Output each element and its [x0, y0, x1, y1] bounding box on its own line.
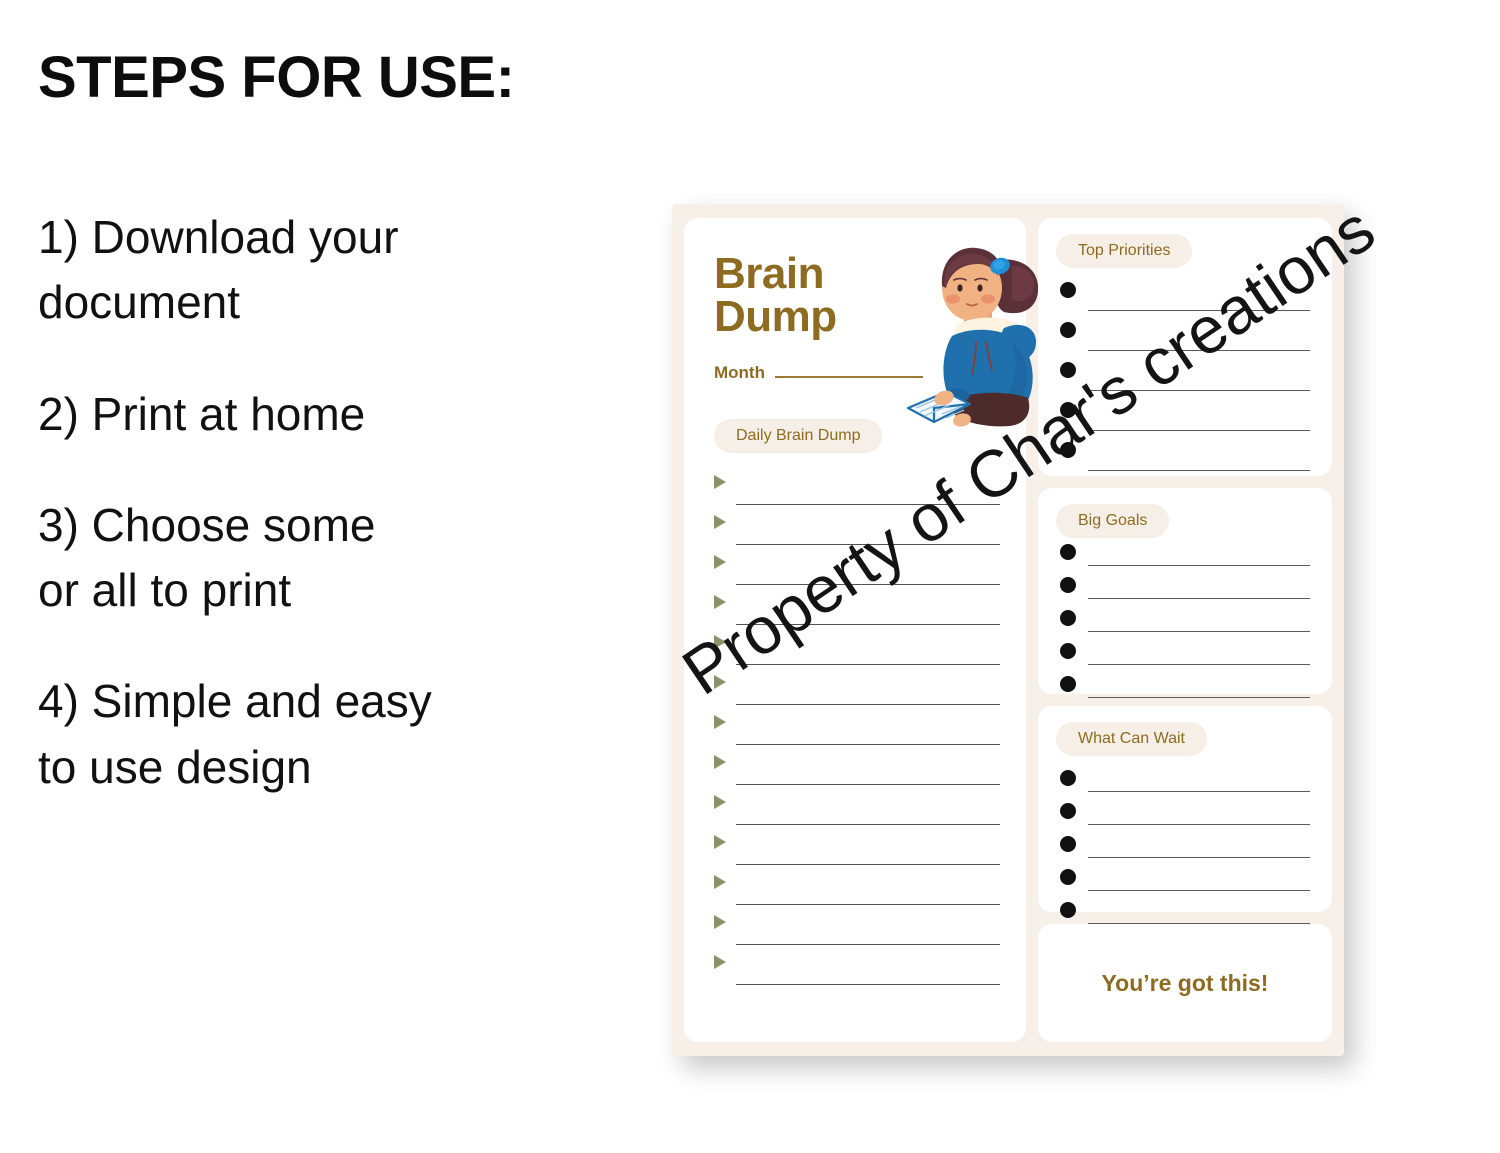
list-item[interactable] — [1056, 542, 1310, 575]
list-item[interactable] — [1056, 641, 1310, 674]
write-line[interactable] — [1088, 857, 1310, 858]
arrow-right-icon — [714, 515, 726, 529]
write-line[interactable] — [1088, 430, 1310, 431]
step-item-2: 2) Print at home — [38, 382, 638, 447]
arrow-right-icon — [714, 475, 726, 489]
bullet-dot-icon — [1060, 902, 1076, 918]
write-line[interactable] — [1088, 598, 1310, 599]
arrow-right-icon — [714, 835, 726, 849]
arrow-right-icon — [714, 555, 726, 569]
list-item[interactable] — [1056, 440, 1310, 480]
write-line[interactable] — [1088, 890, 1310, 891]
bullet-dot-icon — [1060, 770, 1076, 786]
big-goals-list — [1056, 542, 1310, 707]
big-goals-panel: Big Goals — [1038, 488, 1332, 694]
bullet-dot-icon — [1060, 869, 1076, 885]
arrow-right-icon — [714, 715, 726, 729]
brain-dump-card: Brain Dump Month — [684, 218, 1026, 1042]
list-item[interactable] — [714, 473, 1000, 513]
arrow-right-icon — [714, 795, 726, 809]
bullet-dot-icon — [1060, 836, 1076, 852]
list-item[interactable] — [1056, 360, 1310, 400]
write-line[interactable] — [1088, 631, 1310, 632]
write-line[interactable] — [1088, 791, 1310, 792]
big-goals-pill: Big Goals — [1056, 504, 1169, 538]
motivation-panel: You’re got this! — [1038, 924, 1332, 1042]
write-line[interactable] — [1088, 390, 1310, 391]
list-item[interactable] — [714, 833, 1000, 873]
month-field[interactable]: Month — [714, 364, 1000, 381]
write-line[interactable] — [736, 744, 1000, 745]
write-line[interactable] — [736, 824, 1000, 825]
write-line[interactable] — [1088, 470, 1310, 471]
arrow-right-icon — [714, 755, 726, 769]
list-item[interactable] — [714, 513, 1000, 553]
bullet-dot-icon — [1060, 322, 1076, 338]
list-item[interactable] — [714, 873, 1000, 913]
list-item[interactable] — [1056, 320, 1310, 360]
list-item[interactable] — [1056, 867, 1310, 900]
arrow-right-icon — [714, 875, 726, 889]
write-line[interactable] — [1088, 565, 1310, 566]
list-item[interactable] — [714, 753, 1000, 793]
daily-brain-dump-pill: Daily Brain Dump — [714, 419, 882, 453]
instructions-panel: STEPS FOR USE: 1) Download your document… — [38, 48, 638, 846]
write-line[interactable] — [736, 704, 1000, 705]
arrow-right-icon — [714, 595, 726, 609]
write-line[interactable] — [736, 984, 1000, 985]
list-item[interactable] — [714, 593, 1000, 633]
month-write-line[interactable] — [775, 376, 923, 378]
right-panel-column: Top Priorities Big Goals — [1038, 218, 1332, 1042]
write-line[interactable] — [1088, 824, 1310, 825]
title-block: Brain Dump Month — [714, 252, 1000, 381]
daily-brain-dump-list — [714, 473, 1000, 993]
planner-layout: Brain Dump Month — [672, 204, 1344, 1056]
top-priorities-list — [1056, 280, 1310, 480]
list-item[interactable] — [714, 953, 1000, 993]
write-line[interactable] — [736, 584, 1000, 585]
bullet-dot-icon — [1060, 643, 1076, 659]
list-item[interactable] — [1056, 768, 1310, 801]
planner-title: Brain Dump — [714, 252, 1000, 338]
bullet-dot-icon — [1060, 402, 1076, 418]
bullet-dot-icon — [1060, 544, 1076, 560]
list-item[interactable] — [714, 633, 1000, 673]
top-priorities-panel: Top Priorities — [1038, 218, 1332, 476]
write-line[interactable] — [736, 624, 1000, 625]
write-line[interactable] — [1088, 350, 1310, 351]
write-line[interactable] — [736, 664, 1000, 665]
list-item[interactable] — [714, 713, 1000, 753]
list-item[interactable] — [714, 553, 1000, 593]
what-can-wait-panel: What Can Wait — [1038, 706, 1332, 912]
list-item[interactable] — [1056, 834, 1310, 867]
write-line[interactable] — [736, 944, 1000, 945]
page-title: STEPS FOR USE: — [38, 48, 638, 109]
planner-preview-page: Brain Dump Month — [672, 204, 1344, 1056]
bullet-dot-icon — [1060, 577, 1076, 593]
list-item[interactable] — [1056, 608, 1310, 641]
what-can-wait-pill: What Can Wait — [1056, 722, 1207, 756]
bullet-dot-icon — [1060, 676, 1076, 692]
write-line[interactable] — [1088, 697, 1310, 698]
write-line[interactable] — [736, 784, 1000, 785]
motivation-text: You’re got this! — [1102, 970, 1269, 997]
bullet-dot-icon — [1060, 362, 1076, 378]
step-item-1: 1) Download your document — [38, 205, 638, 336]
bullet-dot-icon — [1060, 282, 1076, 298]
list-item[interactable] — [714, 913, 1000, 953]
arrow-right-icon — [714, 635, 726, 649]
arrow-right-icon — [714, 915, 726, 929]
step-item-3: 3) Choose some or all to print — [38, 493, 638, 624]
daily-brain-dump-section: Daily Brain Dump — [714, 419, 1000, 453]
bullet-dot-icon — [1060, 803, 1076, 819]
top-priorities-pill: Top Priorities — [1056, 234, 1192, 268]
write-line[interactable] — [1088, 664, 1310, 665]
list-item[interactable] — [714, 673, 1000, 713]
arrow-right-icon — [714, 955, 726, 969]
list-item[interactable] — [1056, 801, 1310, 834]
list-item[interactable] — [1056, 400, 1310, 440]
write-line[interactable] — [736, 904, 1000, 905]
write-line[interactable] — [1088, 310, 1310, 311]
month-label: Month — [714, 364, 765, 381]
write-line[interactable] — [736, 544, 1000, 545]
arrow-right-icon — [714, 675, 726, 689]
write-line[interactable] — [736, 864, 1000, 865]
list-item[interactable] — [1056, 575, 1310, 608]
what-can-wait-list — [1056, 768, 1310, 933]
bullet-dot-icon — [1060, 610, 1076, 626]
step-item-4: 4) Simple and easy to use design — [38, 669, 638, 800]
list-item[interactable] — [1056, 280, 1310, 320]
write-line[interactable] — [736, 504, 1000, 505]
list-item[interactable] — [714, 793, 1000, 833]
list-item[interactable] — [1056, 674, 1310, 707]
bullet-dot-icon — [1060, 442, 1076, 458]
